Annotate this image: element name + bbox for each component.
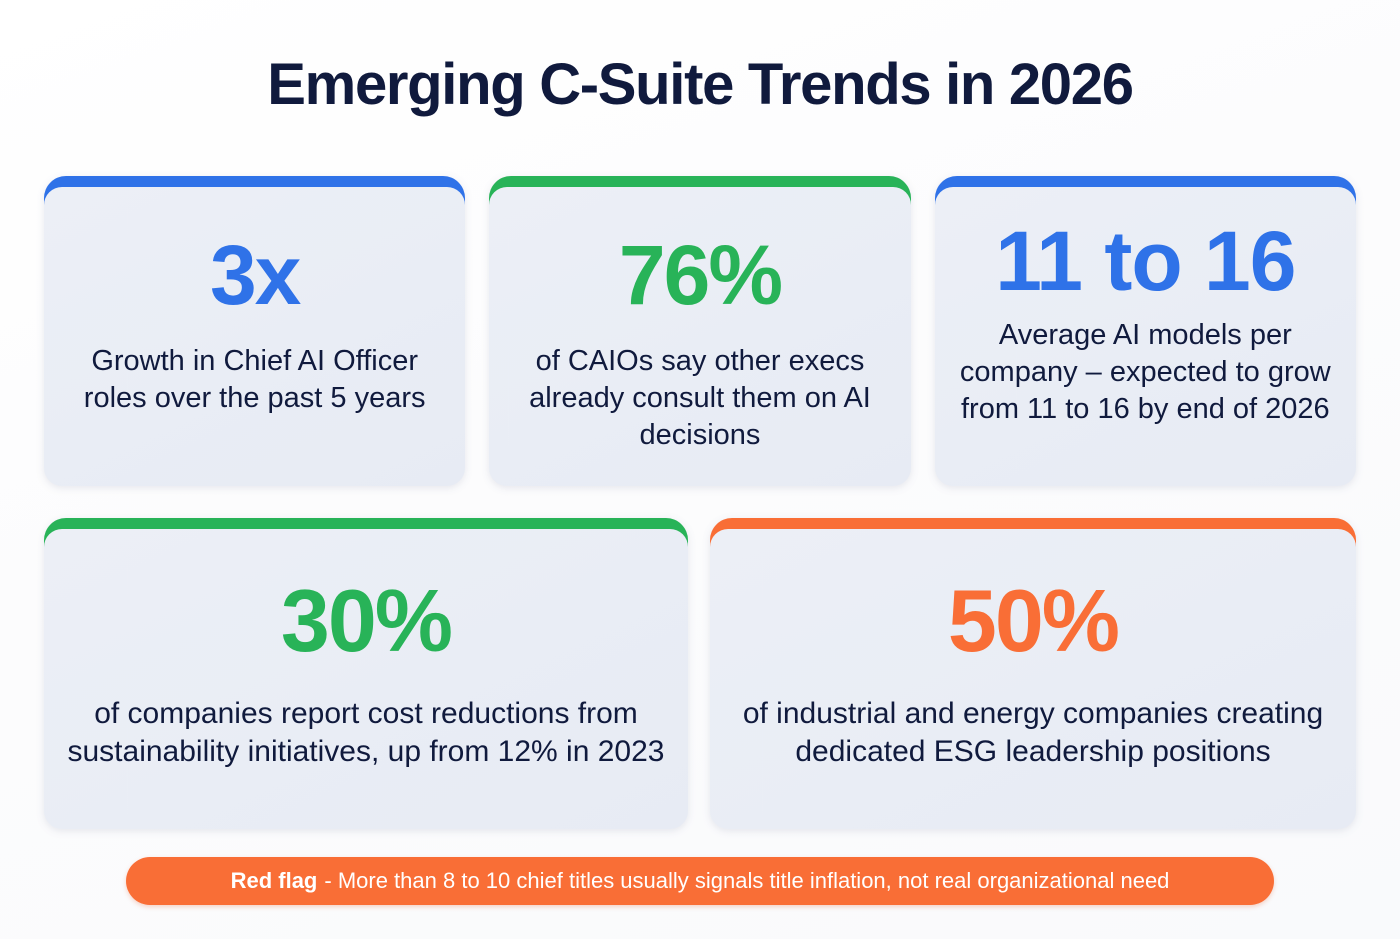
red-flag-banner: Red flag - More than 8 to 10 chief title…	[126, 857, 1274, 905]
stat-card-sustainability-cost: 30% of companies report cost reductions …	[44, 518, 688, 829]
infographic-root: Emerging C-Suite Trends in 2026 3x Growt…	[0, 0, 1400, 939]
page-title: Emerging C-Suite Trends in 2026	[0, 52, 1400, 119]
card-body: 76% of CAIOs say other execs already con…	[489, 187, 910, 486]
stat-card-esg-leadership: 50% of industrial and energy companies c…	[710, 518, 1356, 829]
stat-value: 50%	[948, 577, 1118, 665]
stat-card-row-bottom: 30% of companies report cost reductions …	[44, 518, 1356, 829]
stat-value: 3x	[210, 233, 299, 317]
stat-description: Average AI models per company – expected…	[957, 317, 1334, 428]
stat-card-ai-models: 11 to 16 Average AI models per company –…	[935, 176, 1356, 486]
red-flag-label: Red flag	[231, 868, 318, 894]
stat-value: 11 to 16	[995, 219, 1295, 303]
stat-description: of CAIOs say other execs already consult…	[511, 343, 888, 454]
stat-description: of industrial and energy companies creat…	[732, 695, 1334, 772]
stat-description: Growth in Chief AI Officer roles over th…	[66, 343, 443, 417]
red-flag-text: - More than 8 to 10 chief titles usually…	[324, 868, 1169, 894]
stat-card-caio-consult: 76% of CAIOs say other execs already con…	[489, 176, 910, 486]
card-body: 11 to 16 Average AI models per company –…	[935, 187, 1356, 486]
stat-value: 30%	[281, 577, 451, 665]
card-body: 30% of companies report cost reductions …	[44, 529, 688, 829]
stat-value: 76%	[619, 233, 781, 317]
stat-description: of companies report cost reductions from…	[66, 695, 666, 772]
stat-card-growth-caio: 3x Growth in Chief AI Officer roles over…	[44, 176, 465, 486]
card-body: 50% of industrial and energy companies c…	[710, 529, 1356, 829]
card-body: 3x Growth in Chief AI Officer roles over…	[44, 187, 465, 486]
stat-card-row-top: 3x Growth in Chief AI Officer roles over…	[44, 176, 1356, 486]
